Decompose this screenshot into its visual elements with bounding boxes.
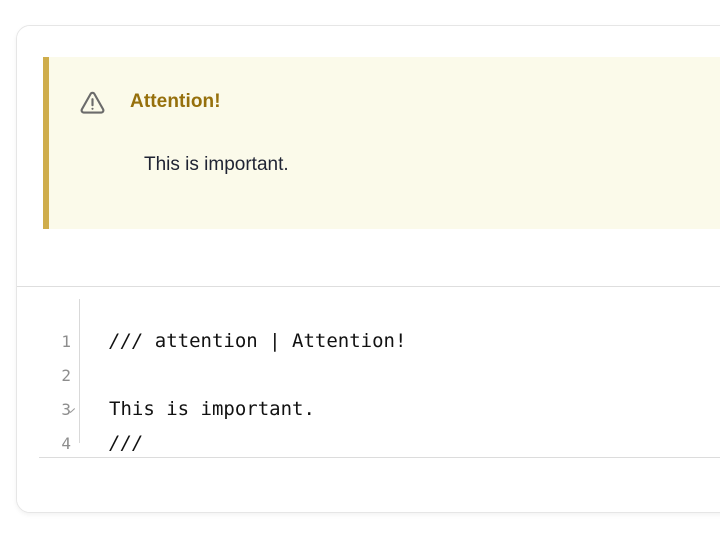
admonition-attention: Attention! This is important. — [43, 57, 720, 229]
page-root: Attention! This is important. 1 2 3 4 — [0, 0, 720, 544]
line-number-1: 1 — [31, 332, 71, 352]
gutter-divider — [79, 299, 80, 443]
admonition-header: Attention! — [79, 89, 221, 115]
code-line-4[interactable]: /// — [109, 432, 143, 454]
card-footer — [17, 458, 720, 513]
code-editor-pane[interactable]: 1 2 3 4 /// attention | Attention! This … — [17, 287, 720, 457]
code-fence-close: /// — [109, 432, 143, 454]
admonition-body-text: This is important. — [144, 154, 289, 176]
code-line-3-text: This is important. — [109, 398, 315, 420]
code-fence-open: /// — [109, 330, 143, 352]
chevron-down-icon[interactable] — [65, 407, 76, 414]
markdown-preview-card: Attention! This is important. 1 2 3 4 — [16, 25, 720, 513]
code-line-1-text: attention | Attention! — [143, 330, 406, 352]
admonition-title: Attention! — [130, 91, 221, 113]
code-content[interactable]: /// attention | Attention! This is impor… — [97, 287, 720, 457]
preview-pane: Attention! This is important. — [17, 26, 720, 286]
line-number-2: 2 — [31, 366, 71, 386]
code-line-3[interactable]: This is important. — [109, 398, 315, 420]
line-number-4: 4 — [31, 434, 71, 454]
warning-triangle-icon — [79, 89, 106, 116]
code-line-1[interactable]: /// attention | Attention! — [109, 330, 406, 352]
editor-gutter[interactable]: 1 2 3 4 — [17, 287, 79, 457]
